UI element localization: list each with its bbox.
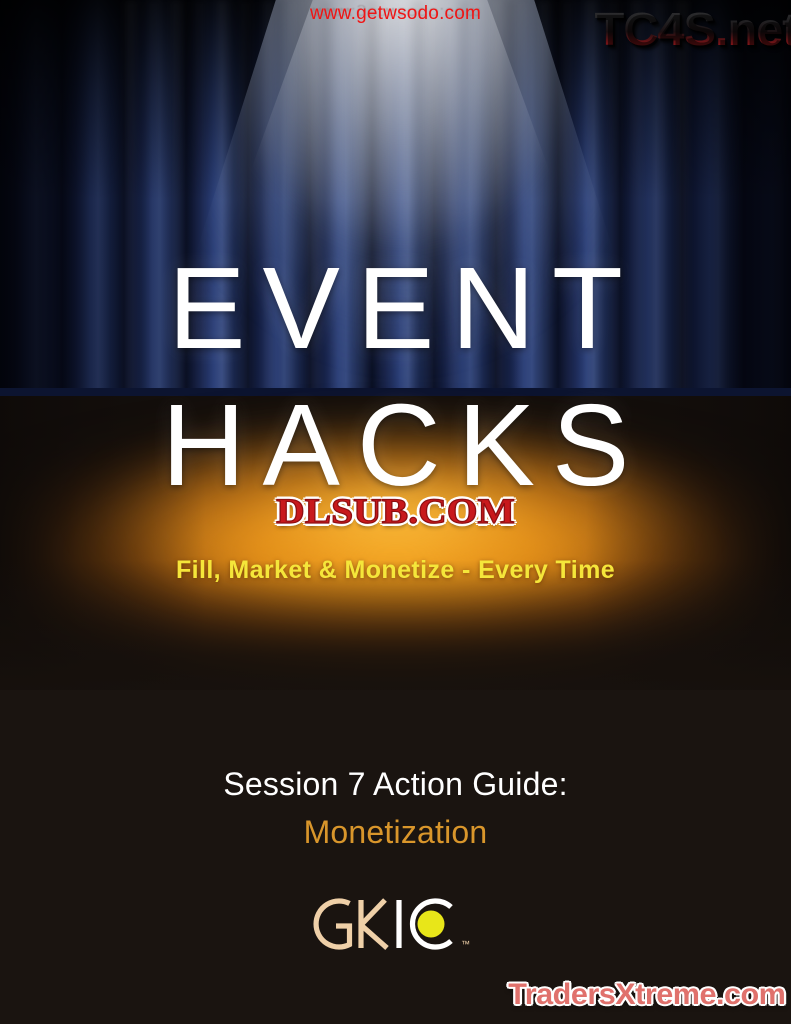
watermark-dlsub: DLSUB.COM <box>0 489 791 533</box>
watermark-tc4s: TC4S.net <box>594 2 791 56</box>
cover-subtitle-block: Session 7 Action Guide: Monetization <box>0 762 791 854</box>
gkic-logo: ™ <box>0 893 791 960</box>
ebook-cover-page: EVENT HACKS Fill, Market & Monetize - Ev… <box>0 0 791 1024</box>
subtitle-topic-line: Monetization <box>0 810 791 854</box>
cover-title: EVENT HACKS <box>0 240 791 514</box>
watermark-dlsub-text: DLSUB.COM <box>270 489 522 533</box>
lower-dark-panel <box>0 690 791 1024</box>
subtitle-session-line: Session 7 Action Guide: <box>0 762 791 806</box>
cover-tagline: Fill, Market & Monetize - Every Time <box>0 556 791 585</box>
watermark-tradersxtreme: TradersXtreme.com <box>509 978 786 1012</box>
gkic-logo-mark: ™ <box>311 893 481 955</box>
gkic-trademark-text: ™ <box>461 939 470 949</box>
title-line-event: EVENT <box>0 240 791 377</box>
